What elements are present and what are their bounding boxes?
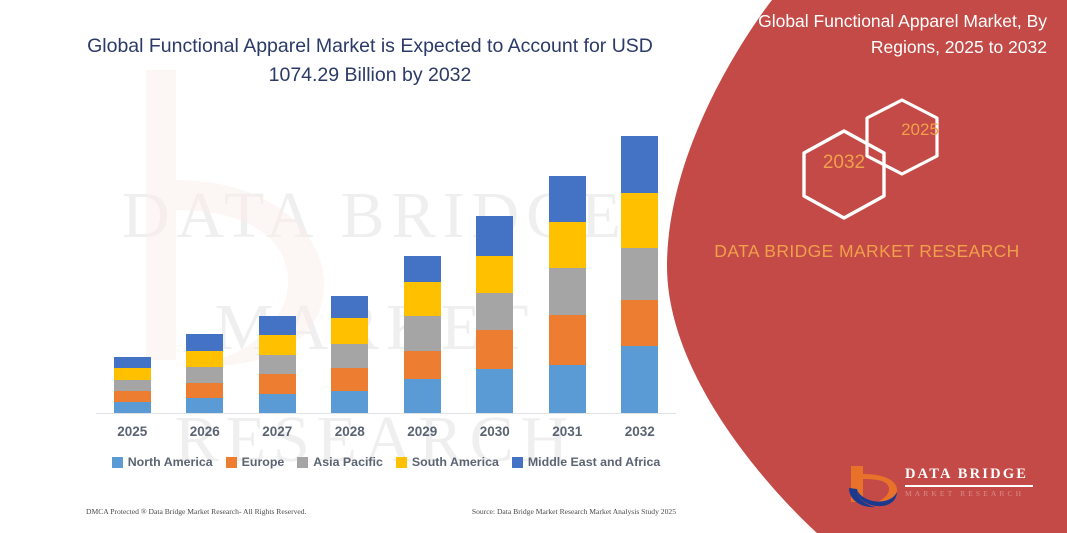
x-axis-label: 2025 xyxy=(97,424,167,439)
legend-label: Europe xyxy=(242,455,285,469)
legend-label: Asia Pacific xyxy=(313,455,383,469)
x-axis-label: 2027 xyxy=(242,424,312,439)
x-axis-label: 2032 xyxy=(605,424,675,439)
legend-item[interactable]: Europe xyxy=(226,455,285,469)
bar-column xyxy=(460,216,530,413)
bar-column xyxy=(170,334,240,413)
footer-copyright: DMCA Protected ® Data Bridge Market Rese… xyxy=(86,507,306,516)
legend-label: North America xyxy=(128,455,213,469)
footer: DMCA Protected ® Data Bridge Market Rese… xyxy=(86,507,676,516)
bar-segment xyxy=(331,318,368,344)
bar-segment xyxy=(549,176,586,222)
bar-segment xyxy=(404,351,441,379)
page-title: Global Functional Apparel Market is Expe… xyxy=(60,32,680,90)
bar-segment xyxy=(114,402,151,413)
x-axis-label: 2031 xyxy=(532,424,602,439)
bar-segment xyxy=(259,355,296,374)
bar-segment xyxy=(331,296,368,318)
bar-segment xyxy=(621,300,658,346)
logo-text-block: DATA BRIDGE MARKET RESEARCH xyxy=(905,466,1033,498)
legend-swatch xyxy=(396,457,407,468)
stacked-bar xyxy=(114,357,151,413)
stacked-bar xyxy=(621,136,658,413)
data-bridge-mark-icon xyxy=(847,462,899,510)
stacked-bar xyxy=(259,316,296,413)
bar-segment xyxy=(114,368,151,380)
right-panel: Global Functional Apparel Market, By Reg… xyxy=(667,0,1067,533)
right-panel-shape xyxy=(667,0,1067,533)
panel-title: Global Functional Apparel Market, By Reg… xyxy=(707,8,1047,60)
stacked-bar xyxy=(404,256,441,413)
bar-segment xyxy=(621,346,658,413)
bar-segment xyxy=(259,374,296,394)
x-axis-label: 2028 xyxy=(315,424,385,439)
stacked-bar xyxy=(186,334,223,413)
brand-name: DATA BRIDGE MARKET RESEARCH xyxy=(697,238,1037,265)
bar-segment xyxy=(621,248,658,300)
bar-segment xyxy=(476,216,513,256)
hexagon-2032-label: 2032 xyxy=(809,152,879,174)
bar-segment xyxy=(621,136,658,193)
bar-segment xyxy=(549,365,586,413)
bar-chart-plot xyxy=(96,120,676,413)
bar-column xyxy=(242,316,312,413)
stacked-bar xyxy=(331,296,368,413)
bar-segment xyxy=(476,256,513,293)
x-axis-label: 2030 xyxy=(460,424,530,439)
bar-segment xyxy=(549,315,586,365)
logo-divider xyxy=(905,485,1033,487)
stacked-bar xyxy=(549,176,586,413)
bar-segment xyxy=(621,193,658,248)
hexagon-2025-label: 2025 xyxy=(890,120,950,140)
legend-swatch xyxy=(112,457,123,468)
bar-column xyxy=(532,176,602,413)
hexagon-2032-icon xyxy=(804,131,884,218)
bar-segment xyxy=(186,351,223,367)
bar-column xyxy=(97,357,167,413)
hexagon-group: 2025 2032 xyxy=(787,95,967,220)
bar-segment xyxy=(476,330,513,369)
x-axis-labels: 20252026202720282029203020312032 xyxy=(96,424,676,446)
legend-swatch xyxy=(226,457,237,468)
x-axis-label: 2029 xyxy=(387,424,457,439)
logo-subtitle: MARKET RESEARCH xyxy=(905,489,1033,498)
x-axis-line xyxy=(96,413,676,414)
bar-segment xyxy=(331,344,368,368)
bar-segment xyxy=(549,222,586,268)
bar-segment xyxy=(404,316,441,351)
legend-swatch xyxy=(512,457,523,468)
legend-item[interactable]: North America xyxy=(112,455,213,469)
bar-segment xyxy=(186,367,223,383)
bar-column xyxy=(315,296,385,413)
bar-segment xyxy=(114,391,151,402)
bar-segment xyxy=(186,398,223,413)
bar-segment xyxy=(404,379,441,413)
bar-segment xyxy=(331,391,368,413)
legend-item[interactable]: South America xyxy=(396,455,499,469)
bar-segment xyxy=(476,293,513,330)
legend-swatch xyxy=(297,457,308,468)
bar-segment xyxy=(259,316,296,335)
bar-segment xyxy=(549,268,586,315)
logo-title: DATA BRIDGE xyxy=(905,466,1033,483)
brand-logo: DATA BRIDGE MARKET RESEARCH xyxy=(847,462,1037,514)
legend-label: South America xyxy=(412,455,499,469)
bar-segment xyxy=(259,394,296,413)
x-axis-label: 2026 xyxy=(170,424,240,439)
bar-segment xyxy=(404,282,441,316)
bar-column xyxy=(605,136,675,413)
bar-column xyxy=(387,256,457,413)
bar-segment xyxy=(114,357,151,368)
chart-legend: North AmericaEuropeAsia PacificSouth Ame… xyxy=(96,455,676,469)
bar-segment xyxy=(331,368,368,391)
legend-label: Middle East and Africa xyxy=(528,455,660,469)
bar-segment xyxy=(186,334,223,351)
bar-segment xyxy=(186,383,223,398)
footer-source: Source: Data Bridge Market Research Mark… xyxy=(472,507,676,516)
legend-item[interactable]: Asia Pacific xyxy=(297,455,383,469)
bar-segment xyxy=(114,380,151,391)
bar-segment xyxy=(259,335,296,355)
bar-segment xyxy=(404,256,441,282)
infographic-root: DATA BRIDGE MARKET RESEARCH Global Funct… xyxy=(0,0,1067,533)
bar-segment xyxy=(476,369,513,413)
legend-item[interactable]: Middle East and Africa xyxy=(512,455,660,469)
stacked-bar xyxy=(476,216,513,413)
